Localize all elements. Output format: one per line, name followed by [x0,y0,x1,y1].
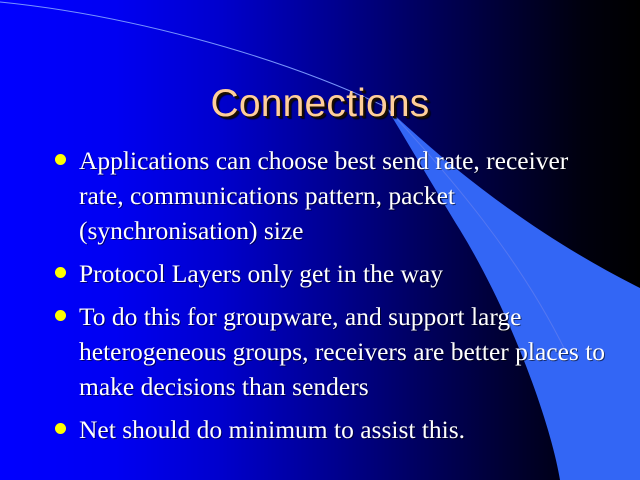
bullet-icon [55,310,66,321]
list-item: Net should do minimum to assist this. [50,412,616,447]
list-item-text: Protocol Layers only get in the way [79,256,616,291]
list-item-text: Net should do minimum to assist this. [79,412,616,447]
list-item-text: To do this for groupware, and support la… [79,299,616,404]
bullet-list: Applications can choose best send rate, … [50,143,616,447]
bullet-icon [55,154,66,165]
presentation-slide: Connections Applications can choose best… [0,0,640,480]
bullet-icon [55,423,66,434]
list-item-text: Applications can choose best send rate, … [79,143,616,248]
list-item: Applications can choose best send rate, … [50,143,616,248]
page-title: Connections [210,84,429,125]
title-block: Connections [0,58,640,151]
bullet-icon [55,267,66,278]
list-item: To do this for groupware, and support la… [50,299,616,404]
list-item: Protocol Layers only get in the way [50,256,616,291]
